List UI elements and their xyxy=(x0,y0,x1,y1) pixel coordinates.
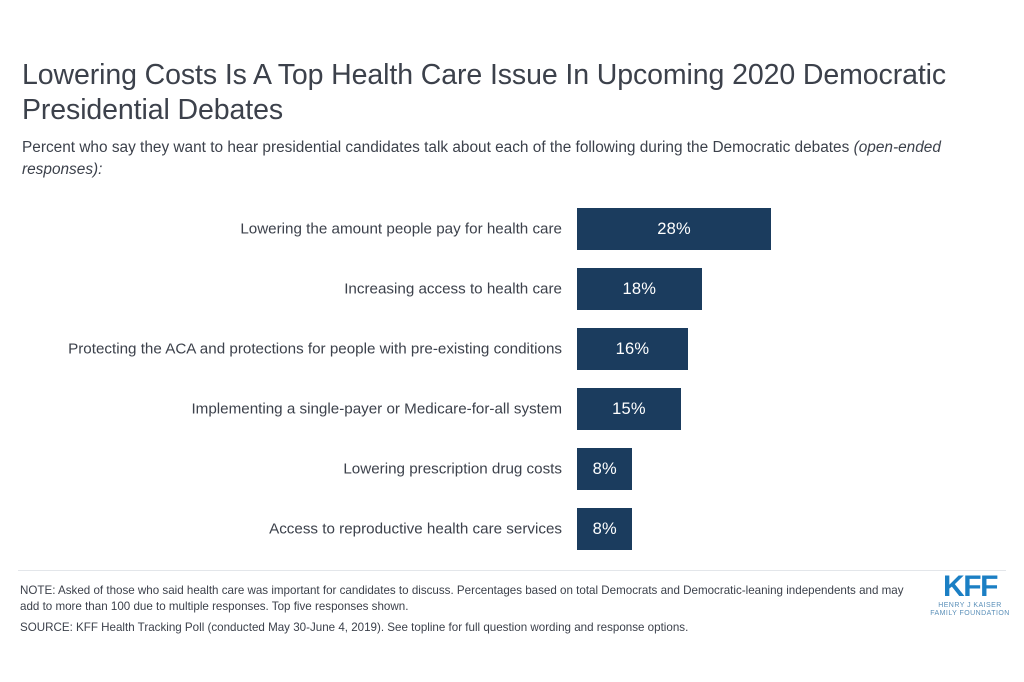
bar-value-label: 28% xyxy=(657,221,691,238)
bar-row: Lowering prescription drug costs8% xyxy=(0,448,1024,490)
kff-tagline-line1: HENRY J KAISER xyxy=(926,602,1014,610)
source-text: SOURCE: KFF Health Tracking Poll (conduc… xyxy=(20,620,910,636)
bar-category-label: Increasing access to health care xyxy=(17,280,562,299)
bar-track: 28% xyxy=(577,208,771,250)
bar-category-label: Lowering prescription drug costs xyxy=(17,460,562,479)
bar-track: 8% xyxy=(577,448,632,490)
bar: 28% xyxy=(577,208,771,250)
bar: 8% xyxy=(577,508,632,550)
bar-category-label: Protecting the ACA and protections for p… xyxy=(17,340,562,359)
bar-chart-plot: Lowering the amount people pay for healt… xyxy=(0,208,1024,558)
kff-tagline-line2: FAMILY FOUNDATION xyxy=(926,610,1014,618)
footnotes: NOTE: Asked of those who said health car… xyxy=(20,583,910,636)
bar-row: Protecting the ACA and protections for p… xyxy=(0,328,1024,370)
footer-divider xyxy=(18,570,1006,571)
bar-category-label: Lowering the amount people pay for healt… xyxy=(17,220,562,239)
title-block: Lowering Costs Is A Top Health Care Issu… xyxy=(22,58,997,181)
bar-value-label: 16% xyxy=(616,341,650,358)
page-title: Lowering Costs Is A Top Health Care Issu… xyxy=(22,58,997,128)
bar-category-label: Access to reproductive health care servi… xyxy=(17,520,562,539)
bar: 18% xyxy=(577,268,702,310)
bar-value-label: 15% xyxy=(612,401,646,418)
chart-subtitle: Percent who say they want to hear presid… xyxy=(22,137,972,181)
note-text: NOTE: Asked of those who said health car… xyxy=(20,583,910,614)
chart-subtitle-main: Percent who say they want to hear presid… xyxy=(22,139,854,156)
bar: 15% xyxy=(577,388,681,430)
kff-wordmark: KFF xyxy=(926,572,1014,602)
bar-category-label: Implementing a single-payer or Medicare-… xyxy=(17,400,562,419)
bar-track: 16% xyxy=(577,328,688,370)
bar-track: 18% xyxy=(577,268,702,310)
kff-logo: KFF HENRY J KAISER FAMILY FOUNDATION xyxy=(926,572,1014,619)
bar-row: Implementing a single-payer or Medicare-… xyxy=(0,388,1024,430)
bar-value-label: 18% xyxy=(623,281,657,298)
bar: 16% xyxy=(577,328,688,370)
chart-slide: Lowering Costs Is A Top Health Care Issu… xyxy=(0,0,1024,682)
bar-row: Increasing access to health care18% xyxy=(0,268,1024,310)
bar-track: 15% xyxy=(577,388,681,430)
bar-track: 8% xyxy=(577,508,632,550)
bar-row: Access to reproductive health care servi… xyxy=(0,508,1024,550)
bar-value-label: 8% xyxy=(593,521,617,538)
bar: 8% xyxy=(577,448,632,490)
bar-row: Lowering the amount people pay for healt… xyxy=(0,208,1024,250)
bar-value-label: 8% xyxy=(593,461,617,478)
